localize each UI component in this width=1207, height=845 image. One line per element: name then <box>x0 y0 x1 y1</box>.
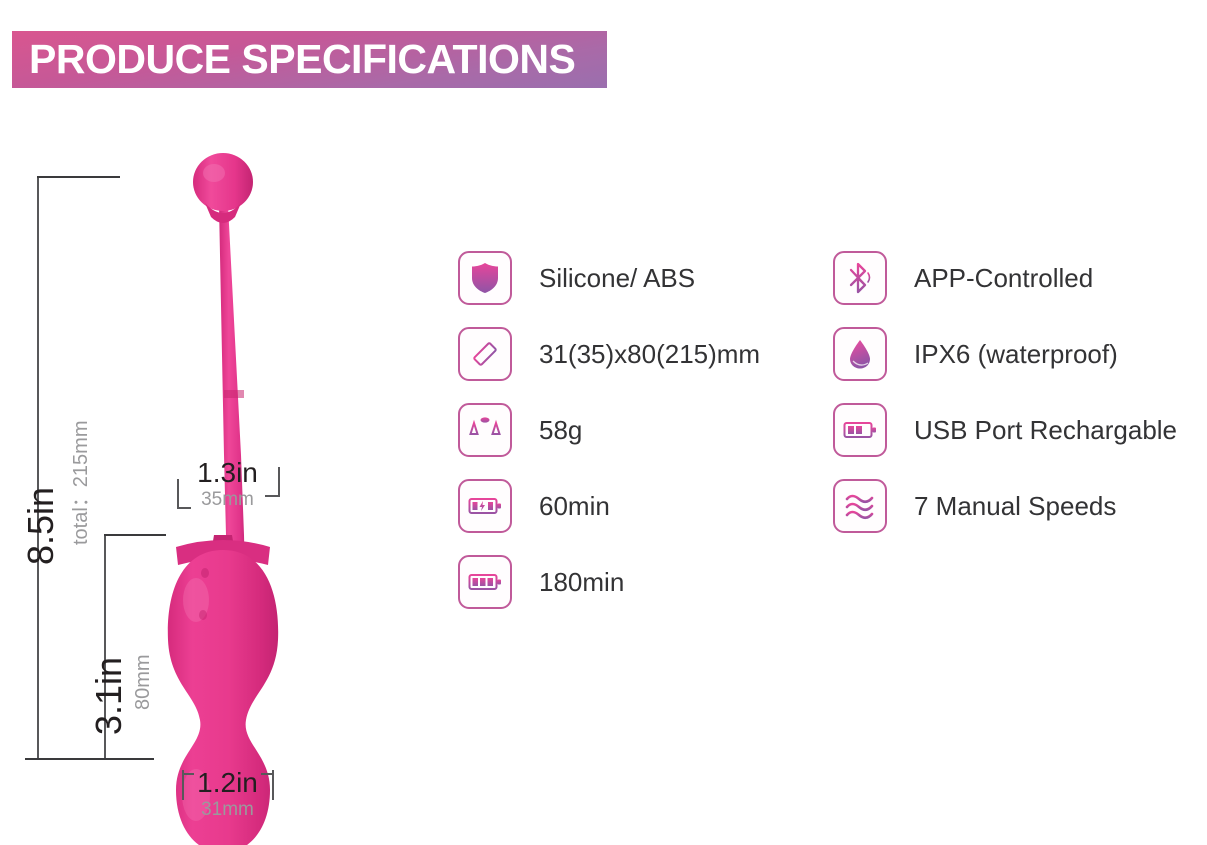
vibration-waves-icon <box>833 479 887 533</box>
spec-item-waterproof: IPX6 (waterproof) <box>833 316 1177 392</box>
total-height-inches: 8.5in <box>20 487 61 565</box>
dimension-label-total-height: 8.5in <box>20 487 62 565</box>
dimension-label-lower-width: 1.2in 31mm <box>150 768 305 822</box>
spec-label-charge-time: 180min <box>539 567 624 598</box>
bluetooth-icon <box>833 251 887 305</box>
dimension-tick-body-bottom <box>92 758 154 760</box>
spec-list-right-column: APP-Controlled IPX6 (waterproof) <box>833 240 1177 544</box>
spec-label-weight: 58g <box>539 415 582 446</box>
spec-label-waterproof: IPX6 (waterproof) <box>914 339 1118 370</box>
spec-list-left-column: Silicone/ ABS 31(35)x80(215)mm <box>458 240 760 620</box>
dimension-line-total-height <box>37 177 39 760</box>
dimension-label-upper-width: 1.3in 35mm <box>150 458 305 512</box>
page-title-banner: PRODUCE SPECIFICATIONS <box>12 31 607 88</box>
dimension-tick-total-top <box>37 176 120 178</box>
spec-item-usb-charging: USB Port Rechargable <box>833 392 1177 468</box>
ruler-icon <box>458 327 512 381</box>
spec-label-app-control: APP-Controlled <box>914 263 1093 294</box>
water-drop-icon <box>833 327 887 381</box>
battery-charging-icon <box>458 479 512 533</box>
battery-usb-icon <box>833 403 887 457</box>
page-title: PRODUCE SPECIFICATIONS <box>12 36 575 83</box>
spec-label-runtime: 60min <box>539 491 610 522</box>
body-height-mm: 80mm <box>132 654 154 710</box>
product-diagram: 8.5in total：215mm 3.1in 80mm 1.3in 35mm … <box>0 95 430 845</box>
body-height-inches: 3.1in <box>88 657 129 735</box>
spec-label-speeds: 7 Manual Speeds <box>914 491 1116 522</box>
spec-item-runtime: 60min <box>458 468 760 544</box>
total-height-mm: total：215mm <box>70 421 92 546</box>
dimension-label-total-height-mm: total：215mm <box>64 421 93 546</box>
spec-item-charge-time: 180min <box>458 544 760 620</box>
dimension-label-body-height-mm: 80mm <box>132 654 155 710</box>
battery-full-icon <box>458 555 512 609</box>
dimension-tick-body-top <box>104 534 166 536</box>
spec-label-material: Silicone/ ABS <box>539 263 695 294</box>
spec-item-app-control: APP-Controlled <box>833 240 1177 316</box>
spec-label-usb-charging: USB Port Rechargable <box>914 415 1177 446</box>
shield-icon <box>458 251 512 305</box>
lower-width-mm: 31mm <box>150 798 305 822</box>
lower-width-inches: 1.2in <box>150 768 305 798</box>
spec-label-size: 31(35)x80(215)mm <box>539 339 760 370</box>
spec-item-size: 31(35)x80(215)mm <box>458 316 760 392</box>
upper-width-mm: 35mm <box>150 488 305 512</box>
spec-item-material: Silicone/ ABS <box>458 240 760 316</box>
spec-item-weight: 58g <box>458 392 760 468</box>
dimension-label-body-height: 3.1in <box>88 657 130 735</box>
upper-width-inches: 1.3in <box>150 458 305 488</box>
scale-icon <box>458 403 512 457</box>
spec-item-speeds: 7 Manual Speeds <box>833 468 1177 544</box>
